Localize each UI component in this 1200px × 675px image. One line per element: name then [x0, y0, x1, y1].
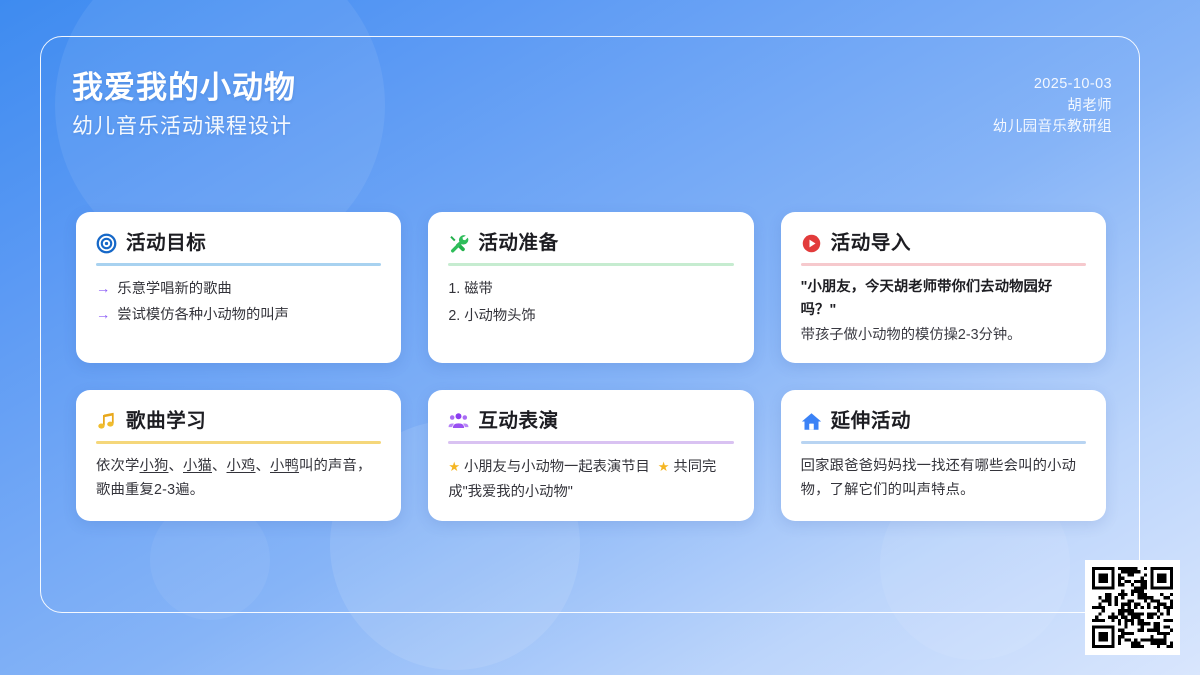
- card-accent-rule: [448, 263, 733, 266]
- card-header: 歌曲学习: [96, 408, 381, 434]
- card-title: 延伸活动: [831, 408, 911, 434]
- arrow-icon: →: [96, 302, 110, 328]
- animal-term: 小鸭: [270, 458, 299, 474]
- page-title: 我爱我的小动物: [72, 68, 1112, 108]
- card-header: 互动表演: [448, 408, 733, 434]
- card-body: →乐意学唱新的歌曲→尝试模仿各种小动物的叫声: [96, 276, 381, 328]
- home-icon: [801, 411, 822, 432]
- card-activity-preparation[interactable]: 活动准备1. 磁带2. 小动物头饰: [428, 212, 753, 363]
- card-title: 互动表演: [478, 408, 558, 434]
- card-accent-rule: [96, 263, 381, 266]
- meta-org: 幼儿园音乐教研组: [993, 117, 1112, 139]
- card-interactive-performance[interactable]: 互动表演★ 小朋友与小动物一起表演节目 ★ 共同完成"我爱我的小动物": [428, 390, 753, 521]
- card-body: 回家跟爸爸妈妈找一找还有哪些会叫的小动物，了解它们的叫声特点。: [801, 454, 1086, 502]
- song-text: 依次学小狗、小猫、小鸡、小鸭叫的声音，歌曲重复2-3遍。: [96, 454, 381, 502]
- text-fragment: 、: [169, 458, 184, 474]
- intro-quote: "小朋友，今天胡老师带你们去动物园好吗？": [801, 276, 1086, 322]
- star-icon: ★: [658, 459, 670, 474]
- card-accent-rule: [96, 441, 381, 444]
- slide-header: 我爱我的小动物 幼儿音乐活动课程设计 2025-10-03 胡老师 幼儿园音乐教…: [72, 68, 1112, 160]
- arrow-icon: →: [96, 276, 110, 302]
- text-fragment: 依次学: [96, 458, 140, 474]
- text-fragment: 、: [212, 458, 227, 474]
- music-note-icon: [96, 411, 117, 432]
- card-body: "小朋友，今天胡老师带你们去动物园好吗？"带孩子做小动物的模仿操2-3分钟。: [801, 276, 1086, 347]
- card-activity-intro[interactable]: 活动导入"小朋友，今天胡老师带你们去动物园好吗？"带孩子做小动物的模仿操2-3分…: [781, 212, 1106, 363]
- list-item-label: 尝试模仿各种小动物的叫声: [117, 302, 289, 328]
- list-item-label: 小朋友与小动物一起表演节目: [464, 459, 650, 475]
- card-body: 依次学小狗、小猫、小鸡、小鸭叫的声音，歌曲重复2-3遍。: [96, 454, 381, 502]
- qr-code[interactable]: [1085, 560, 1180, 655]
- animal-term: 小鸡: [227, 458, 256, 474]
- list-item: 2. 小动物头饰: [448, 303, 733, 330]
- card-title: 活动导入: [831, 230, 911, 256]
- users-icon: [448, 411, 469, 432]
- header-meta: 2025-10-03 胡老师 幼儿园音乐教研组: [993, 74, 1112, 139]
- card-title: 歌曲学习: [126, 408, 206, 434]
- list-item: →尝试模仿各种小动物的叫声: [96, 302, 381, 328]
- card-body: 1. 磁带2. 小动物头饰: [448, 276, 733, 330]
- card-header: 延伸活动: [801, 408, 1086, 434]
- list-item: 1. 磁带: [448, 276, 733, 303]
- text-fragment: 、: [256, 458, 271, 474]
- card-title: 活动准备: [478, 230, 558, 256]
- tools-icon: [448, 233, 469, 254]
- card-extension-activity[interactable]: 延伸活动回家跟爸爸妈妈找一找还有哪些会叫的小动物，了解它们的叫声特点。: [781, 390, 1106, 521]
- qr-code-image: [1092, 567, 1173, 648]
- performance-items: ★ 小朋友与小动物一起表演节目 ★ 共同完成"我爱我的小动物": [448, 454, 733, 505]
- animal-term: 小狗: [140, 458, 169, 474]
- card-text: 回家跟爸爸妈妈找一找还有哪些会叫的小动物，了解它们的叫声特点。: [801, 454, 1086, 502]
- card-accent-rule: [448, 441, 733, 444]
- card-header: 活动准备: [448, 230, 733, 256]
- meta-date: 2025-10-03: [993, 74, 1112, 96]
- card-activity-goal[interactable]: 活动目标→乐意学唱新的歌曲→尝试模仿各种小动物的叫声: [76, 212, 401, 363]
- card-grid: 活动目标→乐意学唱新的歌曲→尝试模仿各种小动物的叫声活动准备1. 磁带2. 小动…: [76, 212, 1106, 521]
- card-body: ★ 小朋友与小动物一起表演节目 ★ 共同完成"我爱我的小动物": [448, 454, 733, 505]
- page-subtitle: 幼儿音乐活动课程设计: [72, 111, 1112, 143]
- card-accent-rule: [801, 441, 1086, 444]
- target-icon: [96, 233, 117, 254]
- star-icon: ★: [448, 459, 460, 474]
- play-circle-icon: [801, 233, 822, 254]
- card-accent-rule: [801, 263, 1086, 266]
- card-title: 活动目标: [126, 230, 206, 256]
- list-item-label: 乐意学唱新的歌曲: [117, 276, 231, 302]
- animal-term: 小猫: [183, 458, 212, 474]
- card-header: 活动目标: [96, 230, 381, 256]
- list-item: →乐意学唱新的歌曲: [96, 276, 381, 302]
- card-header: 活动导入: [801, 230, 1086, 256]
- intro-note: 带孩子做小动物的模仿操2-3分钟。: [801, 324, 1086, 347]
- card-song-learning[interactable]: 歌曲学习依次学小狗、小猫、小鸡、小鸭叫的声音，歌曲重复2-3遍。: [76, 390, 401, 521]
- meta-author: 胡老师: [993, 96, 1112, 118]
